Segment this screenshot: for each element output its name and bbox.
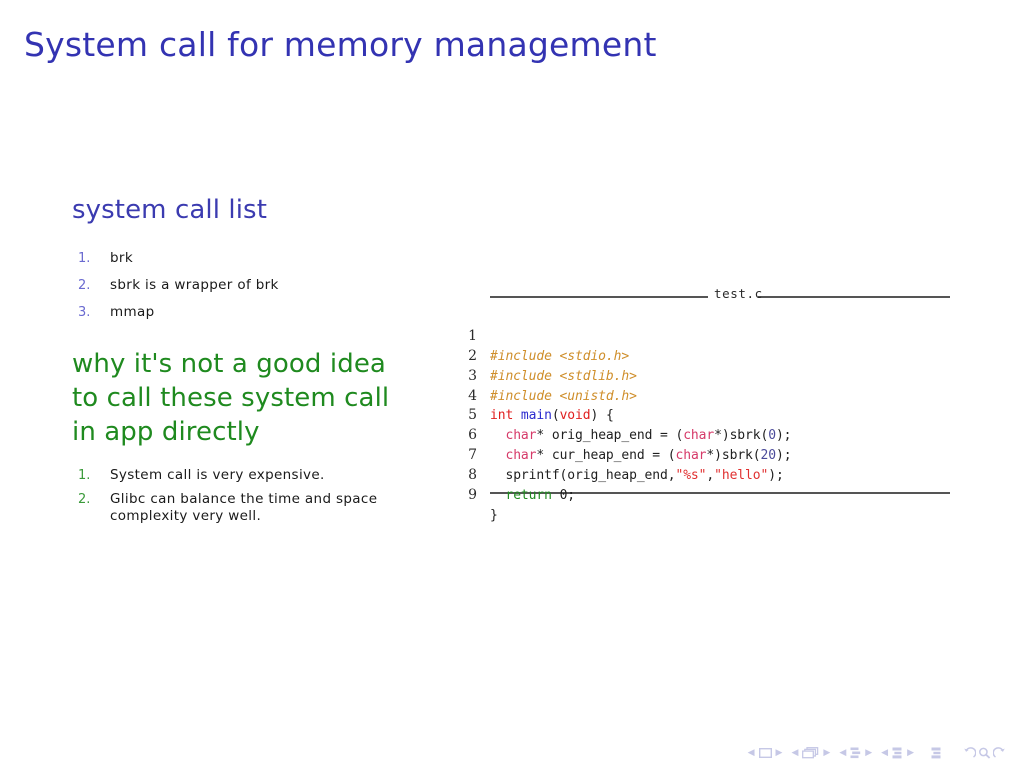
frame-icon[interactable] bbox=[802, 747, 819, 759]
left-content-column: system call list 1. brk 2. sbrk is a wra… bbox=[72, 193, 452, 532]
listing-filename: test.c bbox=[714, 286, 763, 301]
subsection-next-icon[interactable]: ▶ bbox=[865, 749, 872, 758]
code-line: 8 return 0; bbox=[435, 446, 955, 466]
section-icon[interactable] bbox=[892, 747, 903, 759]
block-heading-system-call-list: system call list bbox=[72, 193, 452, 227]
find-icon[interactable] bbox=[978, 747, 991, 759]
code-line: 1 #include <stdio.h> bbox=[435, 307, 955, 327]
page-title: System call for memory management bbox=[24, 22, 657, 68]
code-line: 7 sprintf(orig_heap_end,"%s","hello"); bbox=[435, 426, 955, 446]
reasons-list: 1. System call is very expensive. 2. Gli… bbox=[72, 467, 392, 525]
list-item-label: sbrk is a wrapper of brk bbox=[110, 277, 279, 293]
listing-rule-right bbox=[758, 296, 950, 298]
list-item-label: mmap bbox=[110, 304, 155, 320]
slide-previous-icon[interactable]: ◀ bbox=[748, 749, 755, 758]
nav-group-subsection[interactable]: ◀ ▶ bbox=[839, 747, 872, 759]
code-line: 5 char* orig_heap_end = (char*)sbrk(0); bbox=[435, 387, 955, 407]
code-area: 1 #include <stdio.h> 2 #include <stdlib.… bbox=[435, 307, 955, 486]
section-previous-icon[interactable]: ◀ bbox=[881, 749, 888, 758]
code-line: 3 #include <unistd.h> bbox=[435, 347, 955, 367]
list-marker: 3. bbox=[78, 304, 90, 321]
subsection-icon[interactable] bbox=[850, 747, 861, 759]
code-line: 9 } bbox=[435, 466, 955, 486]
list-item: 1. brk bbox=[72, 250, 452, 267]
forward-icon[interactable] bbox=[993, 747, 1006, 759]
list-item-label: Glibc can balance the time and space com… bbox=[110, 491, 377, 524]
frame-previous-icon[interactable]: ◀ bbox=[791, 749, 798, 758]
slide-next-icon[interactable]: ▶ bbox=[776, 749, 783, 758]
presentation-icon[interactable] bbox=[931, 747, 942, 759]
block-heading-line-1: why it's not a good idea bbox=[72, 347, 422, 381]
nav-group-slide[interactable]: ◀ ▶ bbox=[748, 748, 783, 758]
list-item: 3. mmap bbox=[72, 304, 452, 321]
code-source: return 0; bbox=[490, 486, 575, 506]
code-line: 4 int main(void) { bbox=[435, 367, 955, 387]
list-marker: 2. bbox=[78, 491, 90, 508]
list-marker: 1. bbox=[78, 467, 90, 484]
list-marker: 1. bbox=[78, 250, 90, 267]
slide-icon[interactable] bbox=[759, 748, 772, 758]
code-listing: test.c 1 #include <stdio.h> 2 #include <… bbox=[435, 288, 955, 494]
line-number: 9 bbox=[435, 486, 477, 506]
listing-caption-bar: test.c bbox=[490, 288, 950, 304]
section-next-icon[interactable]: ▶ bbox=[907, 749, 914, 758]
block-heading-line-2: to call these system call bbox=[72, 381, 422, 415]
beamer-navigation-symbols[interactable]: ◀ ▶ ◀ ▶ ◀ bbox=[748, 747, 1006, 759]
beamer-slide: System call for memory management system… bbox=[0, 0, 1024, 767]
listing-rule-left bbox=[490, 296, 708, 298]
block-heading-why-not-good-idea: why it's not a good idea to call these s… bbox=[72, 347, 422, 449]
back-icon[interactable] bbox=[963, 747, 976, 759]
code-line: 6 char* cur_heap_end = (char*)sbrk(20); bbox=[435, 406, 955, 426]
nav-group-find[interactable] bbox=[963, 747, 1006, 759]
list-marker: 2. bbox=[78, 277, 90, 294]
list-item: 2. sbrk is a wrapper of brk bbox=[72, 277, 452, 294]
syscall-list: 1. brk 2. sbrk is a wrapper of brk 3. mm… bbox=[72, 250, 452, 321]
nav-group-section[interactable]: ◀ ▶ bbox=[881, 747, 914, 759]
list-item-label: brk bbox=[110, 250, 133, 266]
list-item: 2. Glibc can balance the time and space … bbox=[72, 491, 392, 525]
frame-next-icon[interactable]: ▶ bbox=[823, 749, 830, 758]
list-item-label: System call is very expensive. bbox=[110, 467, 325, 483]
code-source: } bbox=[490, 506, 498, 526]
code-line: 2 #include <stdlib.h> bbox=[435, 327, 955, 347]
list-item: 1. System call is very expensive. bbox=[72, 467, 392, 484]
subsection-previous-icon[interactable]: ◀ bbox=[839, 749, 846, 758]
block-heading-line-3: in app directly bbox=[72, 415, 422, 449]
nav-group-frame[interactable]: ◀ ▶ bbox=[791, 747, 830, 759]
